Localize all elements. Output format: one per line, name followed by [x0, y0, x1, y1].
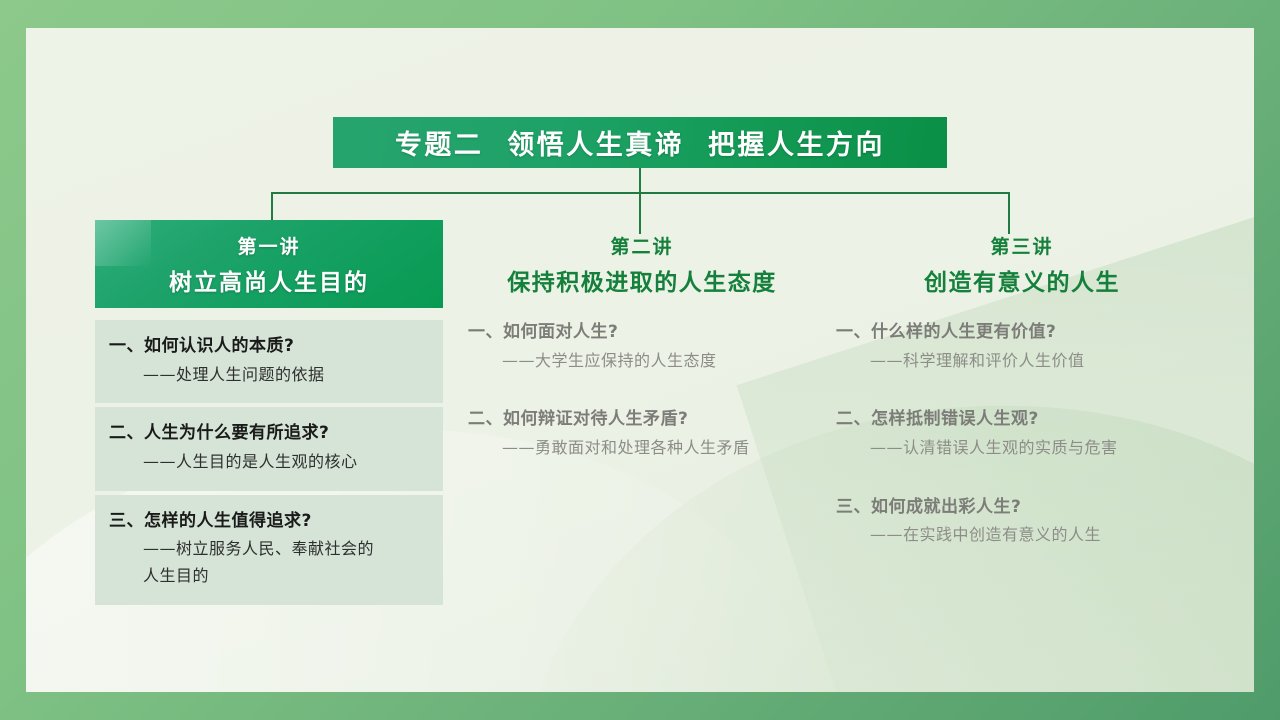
list-item[interactable]: 二、如何辩证对待人生矛盾? ——勇敢面对和处理各种人生矛盾	[468, 407, 816, 460]
connector-stem	[639, 168, 641, 194]
item-question: 三、如何成就出彩人生?	[836, 495, 1208, 521]
slide-title-banner: 专题二 领悟人生真谛 把握人生方向	[333, 117, 947, 168]
column-3-items: 一、什么样的人生更有价值? ——科学理解和评价人生价值 二、怎样抵制错误人生观?…	[836, 320, 1208, 548]
column-2-header[interactable]: 第二讲 保持积极进取的人生态度	[468, 220, 816, 308]
item-question: 二、人生为什么要有所追求?	[109, 421, 429, 447]
list-item[interactable]: 二、怎样抵制错误人生观? ——认清错误人生观的实质与危害	[836, 407, 1208, 460]
item-question: 二、怎样抵制错误人生观?	[836, 407, 1208, 433]
list-item[interactable]: 三、怎样的人生值得追求? ——树立服务人民、奉献社会的 人生目的	[95, 495, 443, 605]
item-question: 三、怎样的人生值得追求?	[109, 509, 429, 535]
column-lecture-1: 第一讲 树立高尚人生目的 一、如何认识人的本质? ——处理人生问题的依据 二、人…	[95, 220, 443, 609]
item-question: 一、什么样的人生更有价值?	[836, 320, 1208, 346]
column-lecture-3: 第三讲 创造有意义的人生 一、什么样的人生更有价值? ——科学理解和评价人生价值…	[836, 220, 1208, 582]
item-answer: ——认清错误人生观的实质与危害	[836, 436, 1208, 461]
list-item[interactable]: 一、如何面对人生? ——大学生应保持的人生态度	[468, 320, 816, 373]
item-answer: ——在实践中创造有意义的人生	[836, 523, 1208, 548]
column-1-items: 一、如何认识人的本质? ——处理人生问题的依据 二、人生为什么要有所追求? ——…	[95, 320, 443, 605]
item-question: 一、如何认识人的本质?	[109, 334, 429, 360]
column-1-heading: 树立高尚人生目的	[169, 263, 369, 297]
item-answer: ——大学生应保持的人生态度	[468, 349, 816, 374]
slide-content: 专题二 领悟人生真谛 把握人生方向 第一讲 树立高尚人生目的 一、如何认识人的本…	[0, 0, 1280, 720]
column-3-heading: 创造有意义的人生	[924, 263, 1120, 297]
item-answer-continuation: 人生目的	[109, 564, 429, 589]
connector-drop-left	[271, 192, 273, 221]
list-item[interactable]: 一、什么样的人生更有价值? ——科学理解和评价人生价值	[836, 320, 1208, 373]
list-item[interactable]: 一、如何认识人的本质? ——处理人生问题的依据	[95, 320, 443, 403]
item-answer: ——处理人生问题的依据	[109, 363, 429, 388]
item-answer: ——科学理解和评价人生价值	[836, 349, 1208, 374]
column-3-header[interactable]: 第三讲 创造有意义的人生	[836, 220, 1208, 308]
item-question: 一、如何面对人生?	[468, 320, 816, 346]
item-question: 二、如何辩证对待人生矛盾?	[468, 407, 816, 433]
list-item[interactable]: 二、人生为什么要有所追求? ——人生目的是人生观的核心	[95, 407, 443, 490]
slide-root: 专题二 领悟人生真谛 把握人生方向 第一讲 树立高尚人生目的 一、如何认识人的本…	[0, 0, 1280, 720]
page-title: 专题二 领悟人生真谛 把握人生方向	[395, 123, 885, 162]
item-answer: ——人生目的是人生观的核心	[109, 450, 429, 475]
column-3-lecture-label: 第三讲	[990, 232, 1053, 259]
column-1-header[interactable]: 第一讲 树立高尚人生目的	[95, 220, 443, 308]
column-2-heading: 保持积极进取的人生态度	[507, 263, 777, 297]
column-2-items: 一、如何面对人生? ——大学生应保持的人生态度 二、如何辩证对待人生矛盾? ——…	[468, 320, 816, 461]
list-item[interactable]: 三、如何成就出彩人生? ——在实践中创造有意义的人生	[836, 495, 1208, 548]
item-answer: ——勇敢面对和处理各种人生矛盾	[468, 436, 816, 461]
column-lecture-2: 第二讲 保持积极进取的人生态度 一、如何面对人生? ——大学生应保持的人生态度 …	[468, 220, 816, 495]
column-2-lecture-label: 第二讲	[610, 232, 673, 259]
item-answer: ——树立服务人民、奉献社会的	[109, 537, 429, 562]
column-1-lecture-label: 第一讲	[237, 232, 300, 259]
